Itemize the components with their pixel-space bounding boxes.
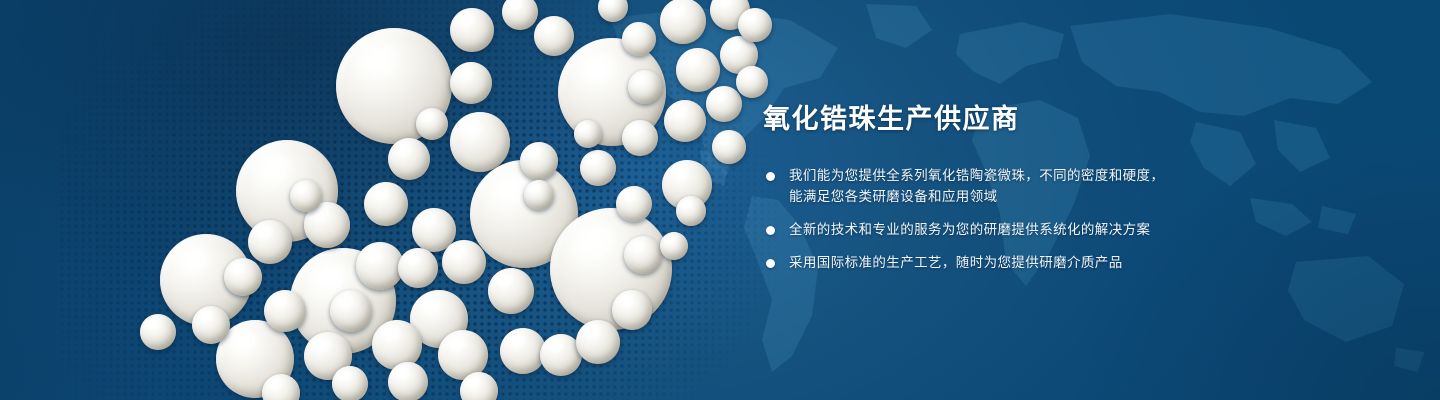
list-item: 我们能为您提供全系列氧化锆陶瓷微珠，不同的密度和硬度， 能满足您各类研磨设备和应… bbox=[763, 166, 1233, 208]
feature-text-line2: 能满足您各类研磨设备和应用领域 bbox=[789, 187, 1233, 208]
list-item: 全新的技术和专业的服务为您的研磨提供系统化的解决方案 bbox=[763, 220, 1233, 241]
bullet-dot-icon bbox=[766, 259, 775, 268]
feature-text-line1: 采用国际标准的生产工艺，随时为您提供研磨介质产品 bbox=[789, 255, 1123, 271]
feature-list: 我们能为您提供全系列氧化锆陶瓷微珠，不同的密度和硬度， 能满足您各类研磨设备和应… bbox=[763, 166, 1233, 274]
hero-banner: 氧化锆珠生产供应商 我们能为您提供全系列氧化锆陶瓷微珠，不同的密度和硬度， 能满… bbox=[0, 0, 1440, 400]
bullet-dot-icon bbox=[766, 172, 775, 181]
bullet-dot-icon bbox=[766, 226, 775, 235]
page-title: 氧化锆珠生产供应商 bbox=[763, 104, 1233, 136]
feature-text-line1: 全新的技术和专业的服务为您的研磨提供系统化的解决方案 bbox=[789, 222, 1150, 238]
list-item: 采用国际标准的生产工艺，随时为您提供研磨介质产品 bbox=[763, 253, 1233, 274]
zirconia-beads-image bbox=[120, 0, 760, 400]
feature-text-line1: 我们能为您提供全系列氧化锆陶瓷微珠，不同的密度和硬度， bbox=[789, 168, 1164, 184]
banner-text-block: 氧化锆珠生产供应商 我们能为您提供全系列氧化锆陶瓷微珠，不同的密度和硬度， 能满… bbox=[763, 104, 1233, 274]
